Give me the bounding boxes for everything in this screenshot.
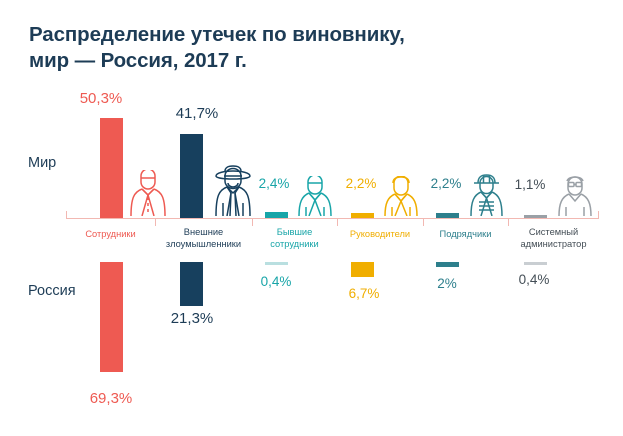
category-column-sysadmin: 1,1% Системный администратор 0,4% (508, 0, 599, 436)
category-label-attackers: Внешние злоумышленники (155, 226, 252, 251)
category-column-contractors: 2,2% Подрядчики 2% (423, 0, 508, 436)
row-label-world: Мир (28, 155, 56, 171)
category-column-employees: 50,3% Сотрудники 69,3% (66, 0, 155, 436)
category-column-former-employees: 2,4% Бывшие сотрудники 0,4% (252, 0, 337, 436)
bar-russia-contractors (436, 262, 459, 267)
value-russia-sysadmin: 0,4% (464, 272, 604, 287)
bar-russia-former-employees (265, 262, 288, 265)
category-label-sysadmin: Системный администратор (508, 226, 599, 251)
category-label-contractors: Подрядчики (423, 228, 508, 240)
bar-world-former-employees (265, 212, 288, 218)
bar-world-contractors (436, 213, 459, 218)
category-label-employees: Сотрудники (66, 228, 155, 240)
diverging-bar-chart: Мир Россия 50,3% Сотрудники 69,3% (0, 0, 623, 436)
category-label-former-employees: Бывшие сотрудники (252, 226, 337, 251)
bar-russia-employees (100, 262, 123, 372)
bar-world-managers (351, 213, 374, 218)
bar-russia-sysadmin (524, 262, 547, 265)
bar-russia-attackers (180, 262, 203, 306)
sysadmin-glasses-icon (556, 176, 594, 216)
category-label-managers: Руководители (337, 228, 423, 240)
value-russia-attackers: 21,3% (122, 310, 262, 327)
value-world-attackers: 41,7% (127, 105, 267, 122)
category-column-attackers: 41,7% Внешние злоумышленники 21,3% (155, 0, 252, 436)
bar-russia-managers (351, 262, 374, 277)
bar-world-sysadmin (524, 215, 547, 218)
bar-world-attackers (180, 134, 203, 218)
category-column-managers: 2,2% Руководители 6,7% (337, 0, 423, 436)
bar-world-employees (100, 118, 123, 218)
